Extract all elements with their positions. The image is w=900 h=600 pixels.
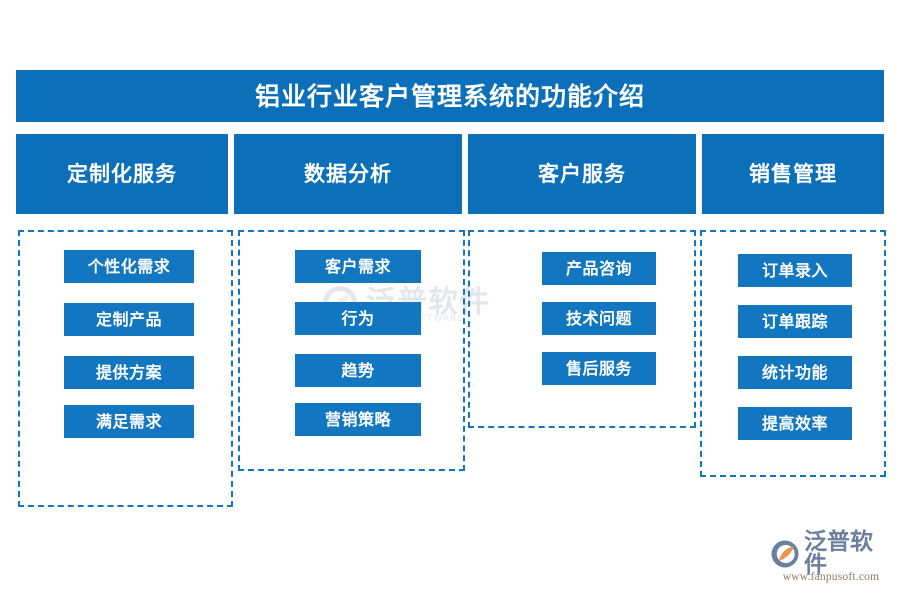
column-header-label: 定制化服务 bbox=[67, 164, 177, 185]
item-chip[interactable]: 订单跟踪 bbox=[738, 305, 852, 338]
item-chip[interactable]: 定制产品 bbox=[64, 303, 194, 336]
column-header-label: 客户服务 bbox=[538, 164, 626, 185]
brand-logo[interactable]: 泛普软件 www.fanpusoft.com bbox=[770, 538, 892, 588]
column-header-label: 销售管理 bbox=[749, 164, 837, 185]
item-chip[interactable]: 行为 bbox=[295, 302, 421, 335]
item-chip-label: 满足需求 bbox=[96, 414, 162, 430]
brand-logo-row: 泛普软件 bbox=[770, 538, 892, 570]
item-chip-label: 统计功能 bbox=[762, 365, 828, 381]
item-chip-label: 售后服务 bbox=[566, 361, 632, 377]
item-chip-label: 订单跟踪 bbox=[762, 314, 828, 330]
item-chip-label: 提供方案 bbox=[96, 365, 162, 381]
item-chip[interactable]: 个性化需求 bbox=[64, 250, 194, 283]
item-chip-label: 客户需求 bbox=[325, 259, 391, 275]
item-chip[interactable]: 技术问题 bbox=[542, 302, 656, 335]
item-chip[interactable]: 统计功能 bbox=[738, 356, 852, 389]
column-header-data-analysis[interactable]: 数据分析 bbox=[234, 134, 462, 214]
item-chip[interactable]: 营销策略 bbox=[295, 403, 421, 436]
item-chip-label: 行为 bbox=[341, 311, 374, 327]
item-chip-label: 订单录入 bbox=[762, 263, 828, 279]
page-title: 铝业行业客户管理系统的功能介绍 bbox=[255, 84, 645, 109]
item-chip[interactable]: 订单录入 bbox=[738, 254, 852, 287]
item-chip[interactable]: 产品咨询 bbox=[542, 252, 656, 285]
brand-url: www.fanpusoft.com bbox=[770, 571, 892, 583]
fanpu-logo-icon bbox=[770, 539, 800, 569]
item-chip-label: 产品咨询 bbox=[566, 261, 632, 277]
item-chip[interactable]: 趋势 bbox=[295, 354, 421, 387]
item-chip-label: 营销策略 bbox=[325, 412, 391, 428]
item-chip-label: 个性化需求 bbox=[88, 259, 171, 275]
item-chip[interactable]: 售后服务 bbox=[542, 352, 656, 385]
item-chip-label: 技术问题 bbox=[566, 311, 632, 327]
item-chip-label: 趋势 bbox=[341, 363, 374, 379]
column-header-sales-management[interactable]: 销售管理 bbox=[702, 134, 884, 214]
item-chip[interactable]: 提高效率 bbox=[738, 407, 852, 440]
item-chip-label: 定制产品 bbox=[96, 312, 162, 328]
item-chip[interactable]: 客户需求 bbox=[295, 250, 421, 283]
item-chip-label: 提高效率 bbox=[762, 416, 828, 432]
column-header-customization[interactable]: 定制化服务 bbox=[16, 134, 228, 214]
infographic-root: 铝业行业客户管理系统的功能介绍 定制化服务 数据分析 客户服务 销售管理 泛普软… bbox=[0, 0, 900, 600]
column-header-customer-service[interactable]: 客户服务 bbox=[468, 134, 696, 214]
column-header-row: 定制化服务 数据分析 客户服务 销售管理 bbox=[16, 134, 884, 214]
item-chip[interactable]: 满足需求 bbox=[64, 405, 194, 438]
item-chip[interactable]: 提供方案 bbox=[64, 356, 194, 389]
title-banner: 铝业行业客户管理系统的功能介绍 bbox=[16, 70, 884, 122]
column-header-label: 数据分析 bbox=[304, 164, 392, 185]
